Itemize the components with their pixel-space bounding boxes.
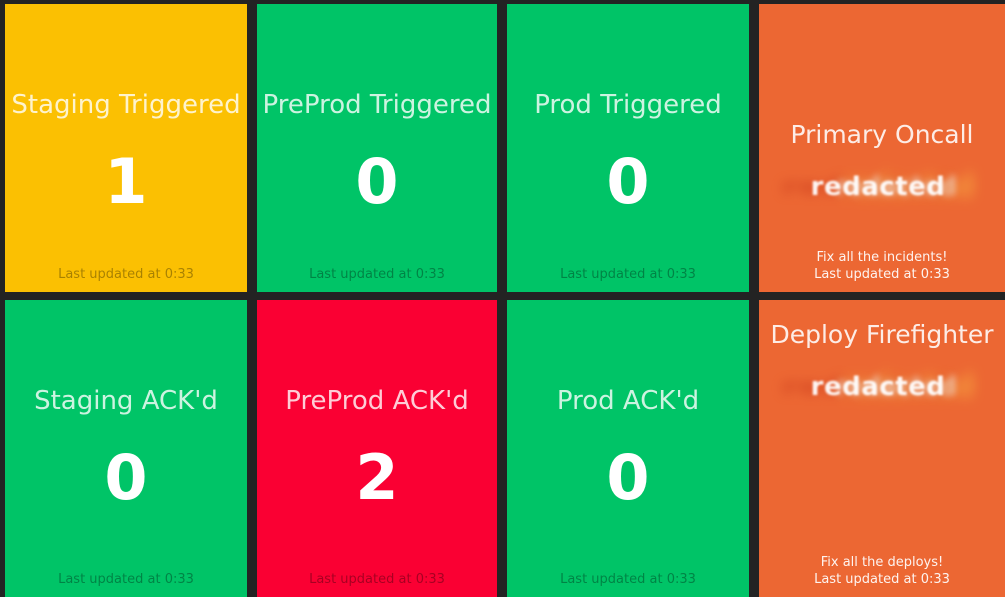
tile-title: Prod Triggered (534, 92, 722, 118)
tile-staging-triggered[interactable]: Staging Triggered 1 Last updated at 0:33 (0, 0, 252, 296)
tile-value: 0 (606, 151, 649, 213)
firefighter-person-name-redacted: redacted redacted redacted redacted (759, 359, 1005, 415)
tile-last-updated: Last updated at 0:33 (759, 571, 1005, 589)
tile-primary-oncall[interactable]: Primary Oncall redacted redacted redacte… (754, 0, 1005, 296)
tile-title: PreProd ACK'd (285, 388, 469, 414)
tile-last-updated: Last updated at 0:33 (5, 267, 247, 282)
tile-value: 0 (606, 447, 649, 509)
tile-last-updated: Last updated at 0:33 (257, 267, 497, 282)
oncall-status-dashboard: Staging Triggered 1 Last updated at 0:33… (0, 0, 1005, 597)
tile-title: Primary Oncall (790, 120, 973, 149)
tile-tagline: Fix all the incidents! (759, 249, 1005, 267)
tile-last-updated: Last updated at 0:33 (507, 267, 749, 282)
tile-preprod-triggered[interactable]: PreProd Triggered 0 Last updated at 0:33 (252, 0, 502, 296)
tile-footer: Fix all the deploys! Last updated at 0:3… (759, 554, 1005, 589)
tile-last-updated: Last updated at 0:33 (759, 266, 1005, 284)
tile-title: PreProd Triggered (263, 92, 492, 118)
tile-last-updated: Last updated at 0:33 (257, 572, 497, 587)
tile-title: Staging ACK'd (34, 388, 218, 414)
tile-value: 2 (355, 447, 398, 509)
tile-preprod-ackd[interactable]: PreProd ACK'd 2 Last updated at 0:33 (252, 296, 502, 597)
tile-value: 0 (355, 151, 398, 213)
tile-title: Staging Triggered (11, 92, 240, 118)
tile-last-updated: Last updated at 0:33 (507, 572, 749, 587)
tile-staging-ackd[interactable]: Staging ACK'd 0 Last updated at 0:33 (0, 296, 252, 597)
tile-prod-triggered[interactable]: Prod Triggered 0 Last updated at 0:33 (502, 0, 754, 296)
tile-title: Deploy Firefighter (770, 320, 993, 349)
tile-value: 0 (104, 447, 147, 509)
redacted-name-layer: redacted (811, 172, 946, 202)
tile-deploy-firefighter[interactable]: Deploy Firefighter redacted redacted red… (754, 296, 1005, 597)
tile-tagline: Fix all the deploys! (759, 554, 1005, 572)
redacted-name-layer: redacted (811, 372, 946, 402)
tile-last-updated: Last updated at 0:33 (5, 572, 247, 587)
tile-title: Prod ACK'd (557, 388, 699, 414)
tile-prod-ackd[interactable]: Prod ACK'd 0 Last updated at 0:33 (502, 296, 754, 597)
oncall-person-name-redacted: redacted redacted redacted redacted (759, 159, 1005, 215)
tile-footer: Fix all the incidents! Last updated at 0… (759, 249, 1005, 284)
tile-value: 1 (104, 151, 147, 213)
